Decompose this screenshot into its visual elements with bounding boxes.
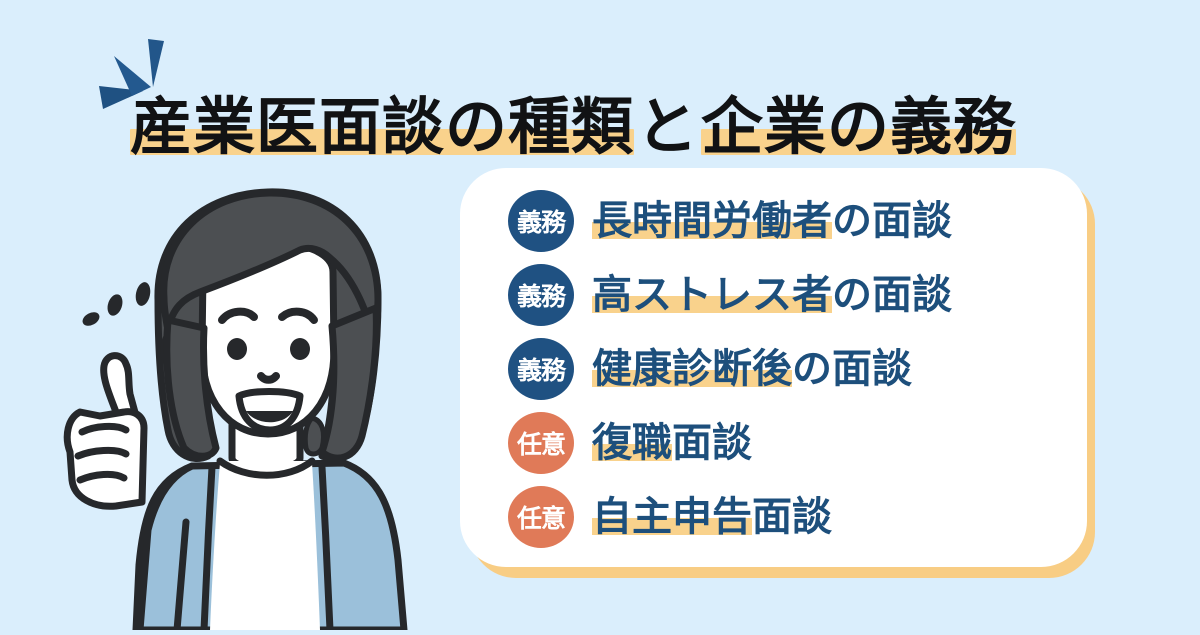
status-badge-label: 任意 (517, 499, 565, 535)
list-item-segment-highlighted: 高ストレス者 (592, 275, 832, 315)
list-item[interactable]: 任意 自主申告 面談 (508, 480, 1088, 554)
status-badge: 任意 (508, 486, 574, 548)
list-item-segment-plain: 面談 (672, 423, 752, 463)
infographic-canvas: 産業医面談の種類 と 企業の義務 義務 長時間労働者 の面談 (0, 0, 1200, 630)
list-item[interactable]: 義務 健康診断後 の面談 (508, 332, 1088, 406)
page-title: 産業医面談の種類 と 企業の義務 (130, 78, 1016, 158)
list-item-segment-text: 健康診断後 (592, 346, 792, 392)
list-item-segment-text: の面談 (792, 346, 912, 392)
status-badge-label: 義務 (517, 351, 565, 387)
list-item[interactable]: 義務 高ストレス者 の面談 (508, 258, 1088, 332)
status-badge-label: 義務 (517, 203, 565, 239)
status-badge: 義務 (508, 190, 574, 252)
title-segment-2-text: と (634, 90, 701, 163)
interview-types-list: 義務 長時間労働者 の面談 義務 高ストレス者 の面談 (508, 184, 1088, 554)
woman-pointing-up-illustration (60, 180, 480, 630)
list-item-segment-highlighted: 健康診断後 (592, 349, 792, 389)
list-item-text: 復職 面談 (592, 423, 752, 463)
list-item-segment-text: の面談 (832, 198, 952, 244)
list-item-segment-highlighted: 復職 (592, 423, 672, 463)
status-badge-label: 任意 (517, 425, 565, 461)
title-segment-3-text: 企業の義務 (701, 90, 1016, 163)
title-segment-2: と (634, 96, 701, 158)
list-item-segment-highlighted: 長時間労働者 (592, 201, 832, 241)
status-badge: 任意 (508, 412, 574, 474)
list-item-segment-text: 長時間労働者 (592, 198, 832, 244)
list-item-segment-text: 高ストレス者 (592, 272, 832, 318)
list-item-text: 長時間労働者 の面談 (592, 201, 952, 241)
list-item-segment-text: 復職 (592, 420, 672, 466)
list-item-segment-text: 自主申告 (592, 494, 752, 540)
list-item-segment-plain: の面談 (832, 275, 952, 315)
status-badge: 義務 (508, 338, 574, 400)
status-badge: 義務 (508, 264, 574, 326)
list-item-segment-plain: の面談 (792, 349, 912, 389)
list-item-segment-text: の面談 (832, 272, 952, 318)
title-segment-1: 産業医面談の種類 (130, 96, 634, 158)
list-item-segment-plain: 面談 (752, 497, 832, 537)
list-item-segment-plain: の面談 (832, 201, 952, 241)
list-item[interactable]: 義務 長時間労働者 の面談 (508, 184, 1088, 258)
list-item-segment-text: 面談 (752, 494, 832, 540)
status-badge-label: 義務 (517, 277, 565, 313)
list-item-text: 高ストレス者 の面談 (592, 275, 952, 315)
title-segment-3: 企業の義務 (701, 96, 1016, 158)
list-item-text: 自主申告 面談 (592, 497, 832, 537)
list-item-segment-highlighted: 自主申告 (592, 497, 752, 537)
title-segment-1-text: 産業医面談の種類 (130, 90, 634, 163)
list-item-segment-text: 面談 (672, 420, 752, 466)
list-item-text: 健康診断後 の面談 (592, 349, 912, 389)
list-item[interactable]: 任意 復職 面談 (508, 406, 1088, 480)
